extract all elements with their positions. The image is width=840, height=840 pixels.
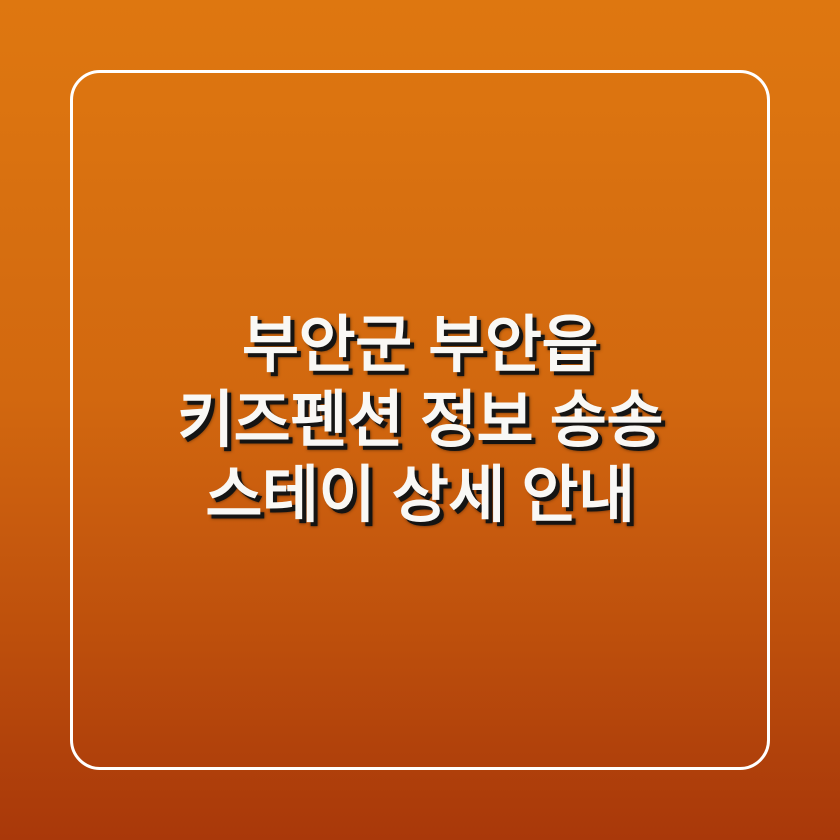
headline-block: 부안군 부안읍 키즈펜션 정보 송송 스테이 상세 안내: [70, 70, 770, 770]
headline-line-3: 스테이 상세 안내: [86, 458, 754, 533]
thumbnail-card: 부안군 부안읍 키즈펜션 정보 송송 스테이 상세 안내: [0, 0, 840, 840]
headline-line-2: 키즈펜션 정보 송송: [86, 383, 754, 458]
headline-line-1: 부안군 부안읍: [86, 308, 754, 383]
